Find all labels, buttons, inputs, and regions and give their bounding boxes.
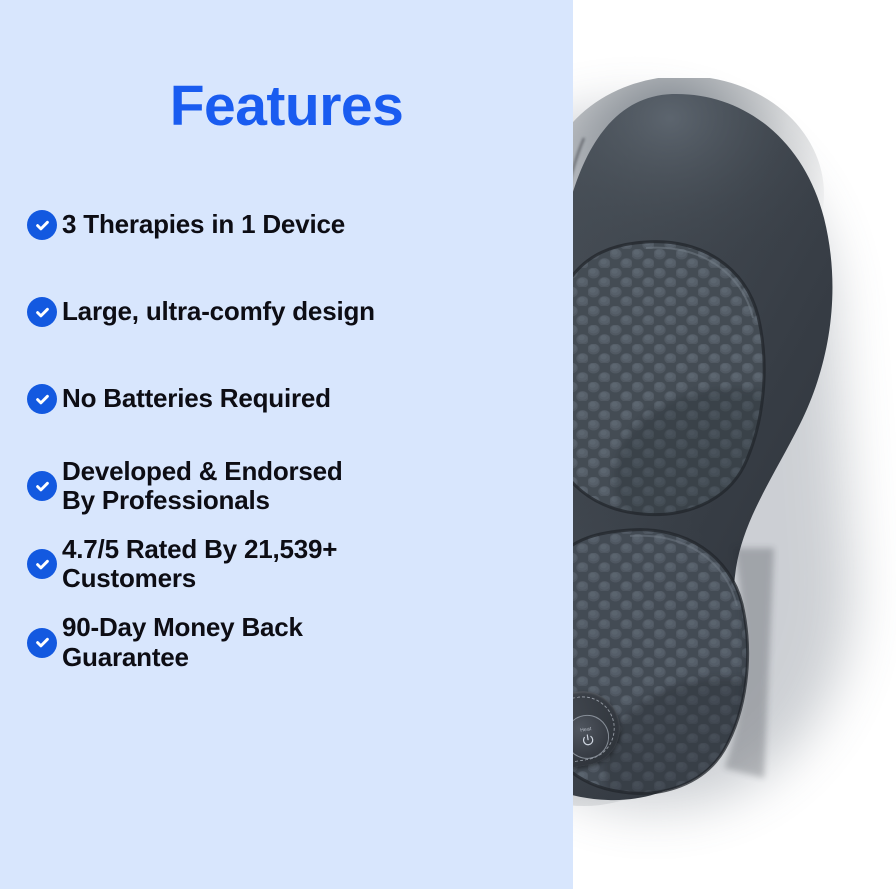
features-panel: Features 3 Therapies in 1 Device Large, …	[0, 0, 573, 889]
feature-item-guarantee: 90-Day Money Back Guarantee	[0, 613, 573, 671]
power-icon	[580, 732, 595, 747]
check-circle-icon	[27, 471, 57, 501]
check-circle-icon	[27, 297, 57, 327]
check-circle-icon	[27, 628, 57, 658]
check-circle-icon	[27, 384, 57, 414]
feature-item-rating: 4.7/5 Rated By 21,539+ Customers	[0, 535, 573, 593]
feature-item-no-batteries: No Batteries Required	[0, 370, 573, 428]
feature-item-comfy-design: Large, ultra-comfy design	[0, 283, 573, 341]
feature-item-therapies: 3 Therapies in 1 Device	[0, 196, 573, 254]
feature-label: 90-Day Money Back Guarantee	[62, 613, 303, 671]
feature-item-endorsed: Developed & Endorsed By Professionals	[0, 457, 573, 515]
feature-label: Large, ultra-comfy design	[62, 297, 375, 326]
feature-label: 3 Therapies in 1 Device	[62, 210, 345, 239]
feature-label: No Batteries Required	[62, 384, 331, 413]
feature-highlight-canvas: Massage Heat	[0, 0, 896, 896]
feature-label: Developed & Endorsed By Professionals	[62, 457, 343, 515]
check-circle-icon	[27, 549, 57, 579]
page-title: Features	[0, 78, 573, 135]
check-circle-icon	[27, 210, 57, 240]
feature-list: 3 Therapies in 1 Device Large, ultra-com…	[0, 196, 573, 692]
feature-label: 4.7/5 Rated By 21,539+ Customers	[62, 535, 337, 593]
